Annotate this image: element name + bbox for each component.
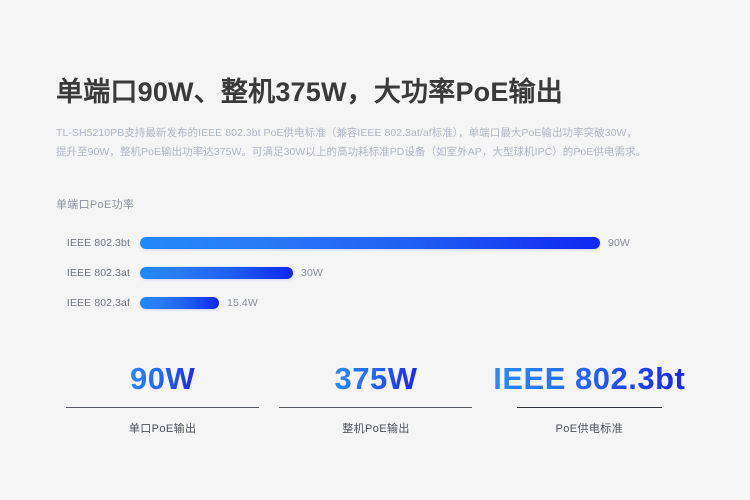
bar-value-label: 15.4W: [227, 297, 258, 309]
stat-total-output: 375W 整机PoE输出: [269, 358, 482, 436]
chart-title: 单端口PoE功率: [56, 196, 706, 212]
stat-divider: [279, 407, 472, 408]
stats-row: 90W 单口PoE输出 375W 整机PoE输出 IEEE 802.3bt Po…: [56, 358, 696, 436]
bar-value-label: 90W: [608, 237, 630, 249]
bar-row: IEEE 802.3at 30W: [56, 258, 706, 288]
bar-fill: [140, 297, 219, 309]
stat-value: 90W: [130, 358, 195, 400]
description-line-1: TL-SH5210PB支持最新发布的IEEE 802.3bt PoE供电标准（兼…: [56, 124, 716, 143]
description-line-2: 提升至90W，整机PoE输出功率达375W。可满足30W以上的高功耗标准PD设备…: [56, 143, 716, 162]
bar-track: 15.4W: [140, 288, 706, 318]
bar-category-label: IEEE 802.3at: [56, 267, 140, 279]
stat-divider: [66, 407, 259, 408]
bar-rows: IEEE 802.3bt 90W IEEE 802.3at 30W IEEE 8…: [56, 228, 706, 318]
stat-caption: 整机PoE输出: [342, 420, 410, 436]
stat-value: 375W: [335, 358, 418, 400]
poe-power-chart: 单端口PoE功率 IEEE 802.3bt 90W IEEE 802.3at 3…: [56, 196, 706, 318]
bar-track: 90W: [140, 228, 706, 258]
stat-divider: [517, 407, 662, 408]
bar-row: IEEE 802.3af 15.4W: [56, 288, 706, 318]
stat-single-port-output: 90W 单口PoE输出: [56, 358, 269, 436]
bar-category-label: IEEE 802.3af: [56, 297, 140, 309]
description-block: TL-SH5210PB支持最新发布的IEEE 802.3bt PoE供电标准（兼…: [56, 124, 716, 162]
bar-category-label: IEEE 802.3bt: [56, 237, 140, 249]
stat-poe-standard: IEEE 802.3bt PoE供电标准: [483, 358, 696, 436]
bar-value-label: 30W: [301, 267, 323, 279]
page-title: 单端口90W、整机375W，大功率PoE输出: [56, 70, 563, 109]
stat-caption: PoE供电标准: [556, 420, 624, 436]
stat-value: IEEE 802.3bt: [493, 358, 685, 400]
stat-caption: 单口PoE输出: [129, 420, 197, 436]
bar-fill: [140, 267, 293, 279]
promo-page: 单端口90W、整机375W，大功率PoE输出 TL-SH5210PB支持最新发布…: [0, 0, 750, 500]
bar-track: 30W: [140, 258, 706, 288]
bar-row: IEEE 802.3bt 90W: [56, 228, 706, 258]
bar-fill: [140, 237, 600, 249]
